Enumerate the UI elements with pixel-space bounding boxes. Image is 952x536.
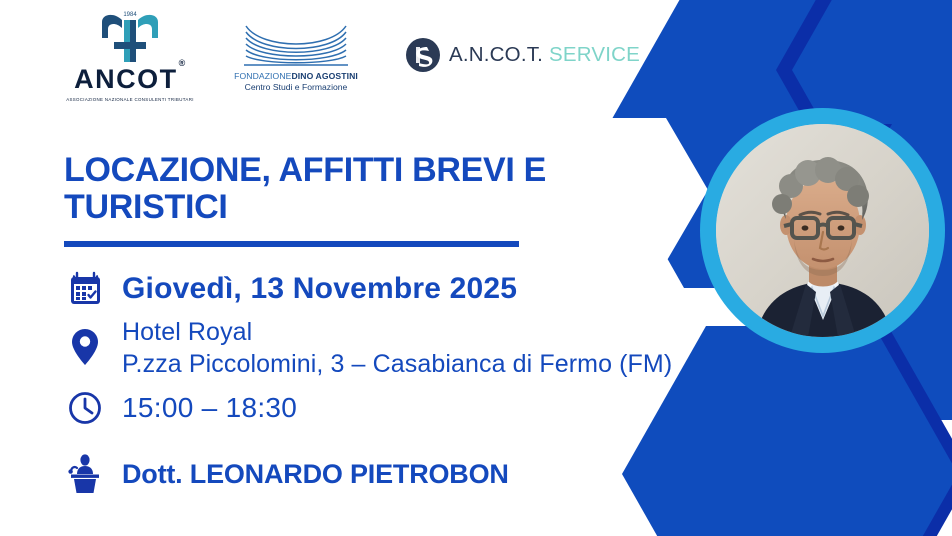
title-block: LOCAZIONE, AFFITTI BREVI E TURISTICI — [64, 152, 584, 247]
logo-ancot: 1984 ANCOT® ASSOCIAZIONE NAZIONALE CONSU… — [64, 8, 196, 102]
registered-mark: ® — [179, 58, 187, 68]
ancot-year-text: 1984 — [123, 12, 137, 18]
clock-icon — [68, 391, 102, 425]
event-date-text: Giovedì, 13 Novembre 2025 — [122, 266, 517, 306]
service-name-secondary: SERVICE — [549, 43, 640, 66]
ancot-wordmark-text: ANCOT — [74, 64, 178, 94]
detail-row-date: Giovedì, 13 Novembre 2025 — [64, 266, 764, 310]
fondazione-word: FONDAZIONE — [234, 71, 291, 81]
event-flyer: 1984 ANCOT® ASSOCIAZIONE NAZIONALE CONSU… — [0, 0, 952, 536]
map-pin-icon-wrap — [64, 318, 106, 372]
detail-row-speaker: Dott. LEONARDO PIETROBON — [64, 451, 764, 497]
location-text: Hotel Royal P.zza Piccolomini, 3 – Casab… — [122, 318, 672, 379]
calendar-icon-wrap — [64, 266, 106, 310]
map-pin-icon — [71, 328, 99, 366]
podium-speaker-icon — [66, 454, 104, 494]
event-time-text: 15:00 – 18:30 — [122, 387, 297, 424]
calendar-icon — [68, 271, 103, 306]
service-name-primary: A.N.CO.T. — [449, 43, 543, 66]
podium-icon-wrap — [64, 451, 106, 497]
title-underline — [64, 241, 519, 247]
service-wordmark: A.N.CO.T. SERVICE — [449, 43, 640, 67]
venue-address: P.zza Piccolomini, 3 – Casabianca di Fer… — [122, 350, 672, 380]
logo-fondazione-dino-agostini: FONDAZIONEDINO AGOSTINI Centro Studi e F… — [232, 24, 360, 92]
clock-icon-wrap — [64, 387, 106, 429]
venue-name: Hotel Royal — [122, 318, 672, 348]
detail-row-time: 15:00 – 18:30 — [64, 387, 764, 429]
ancot-wordmark: ANCOT® — [74, 66, 186, 93]
event-title: LOCAZIONE, AFFITTI BREVI E TURISTICI — [64, 152, 584, 225]
logo-ancot-service: A.N.CO.T. SERVICE — [406, 38, 640, 72]
detail-row-location: Hotel Royal P.zza Piccolomini, 3 – Casab… — [64, 318, 764, 379]
ancot-service-badge-icon — [406, 38, 440, 72]
event-details: Giovedì, 13 Novembre 2025 Hotel Royal P.… — [64, 266, 764, 497]
logo-row: 1984 ANCOT® ASSOCIAZIONE NAZIONALE CONSU… — [0, 0, 640, 108]
fondazione-name-line: FONDAZIONEDINO AGOSTINI — [232, 71, 360, 81]
fondazione-person-name: DINO AGOSTINI — [291, 71, 357, 81]
fondazione-subtitle: Centro Studi e Formazione — [232, 82, 360, 92]
speaker-name: Dott. LEONARDO PIETROBON — [122, 451, 509, 491]
fondazione-arcs-icon — [240, 24, 352, 68]
ancot-tagline: ASSOCIAZIONE NAZIONALE CONSULENTI TRIBUT… — [64, 97, 196, 102]
ancot-tree-mark-icon: 1984 — [94, 8, 166, 64]
